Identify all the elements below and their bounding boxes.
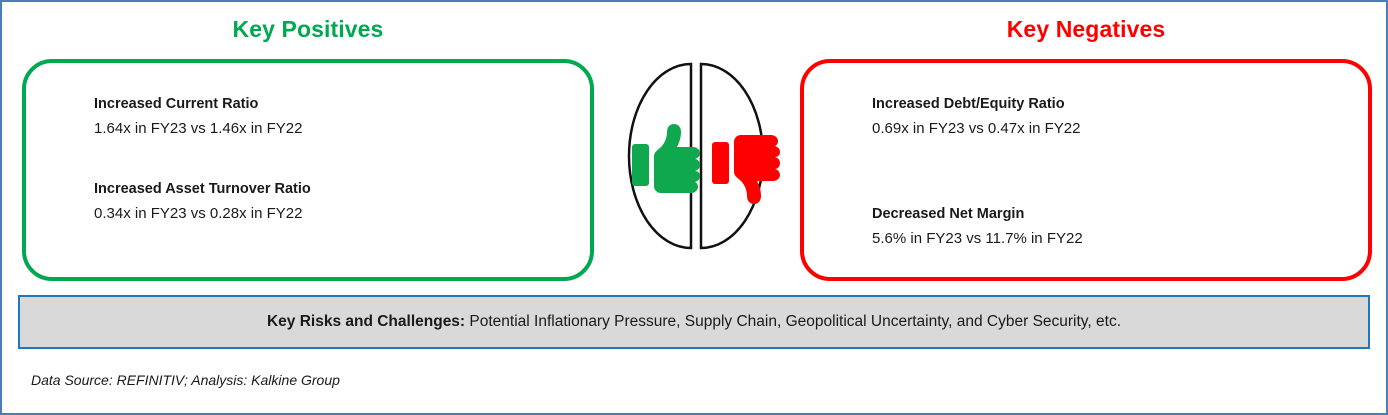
data-source-note: Data Source: REFINITIV; Analysis: Kalkin… xyxy=(31,372,340,388)
key-risks-bar: Key Risks and Challenges: Potential Infl… xyxy=(18,295,1370,349)
thumbs-split-circle-icon xyxy=(608,60,784,252)
positive-metric-2-label: Increased Asset Turnover Ratio xyxy=(94,180,566,200)
positive-metric-1-label: Increased Current Ratio xyxy=(94,95,566,115)
negative-metric-2-value: 5.6% in FY23 vs 11.7% in FY22 xyxy=(872,229,1344,249)
negative-metric-1-label: Increased Debt/Equity Ratio xyxy=(872,95,1344,115)
positive-metric-2-value: 0.34x in FY23 vs 0.28x in FY22 xyxy=(94,204,566,224)
positive-metric-1: Increased Current Ratio 1.64x in FY23 vs… xyxy=(94,95,566,139)
key-positives-title: Key Positives xyxy=(22,18,594,41)
key-positives-panel: Increased Current Ratio 1.64x in FY23 vs… xyxy=(22,59,594,281)
infographic-canvas: Key Positives Key Negatives Increased Cu… xyxy=(0,0,1388,415)
negative-metric-2: Decreased Net Margin 5.6% in FY23 vs 11.… xyxy=(872,205,1344,249)
key-risks-body: Potential Inflationary Pressure, Supply … xyxy=(465,313,1121,330)
key-negatives-title: Key Negatives xyxy=(800,18,1372,41)
negative-metric-2-label: Decreased Net Margin xyxy=(872,205,1344,225)
key-risks-text: Key Risks and Challenges: Potential Infl… xyxy=(267,313,1121,332)
key-negatives-panel: Increased Debt/Equity Ratio 0.69x in FY2… xyxy=(800,59,1372,281)
positive-metric-2: Increased Asset Turnover Ratio 0.34x in … xyxy=(94,180,566,224)
key-risks-label: Key Risks and Challenges: xyxy=(267,313,465,330)
negative-metric-1-value: 0.69x in FY23 vs 0.47x in FY22 xyxy=(872,119,1344,139)
negative-metric-1: Increased Debt/Equity Ratio 0.69x in FY2… xyxy=(872,95,1344,139)
positive-metric-1-value: 1.64x in FY23 vs 1.46x in FY22 xyxy=(94,119,566,139)
